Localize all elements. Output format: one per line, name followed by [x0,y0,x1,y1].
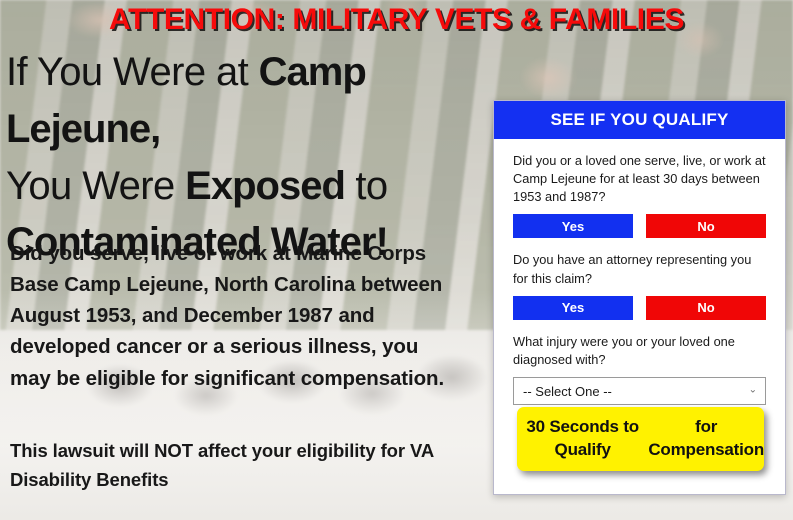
attention-banner: ATTENTION: MILITARY VETS & FAMILIES [0,3,793,37]
qualify-form-panel: SEE IF YOU QUALIFY Did you or a loved on… [493,100,786,495]
question-2-answers: Yes No [513,296,766,320]
cta-line-2: for Compensation [648,416,764,461]
va-benefits-disclaimer: This lawsuit will NOT affect your eligib… [10,437,460,494]
question-1-no-button[interactable]: No [646,214,766,238]
question-3-label: What injury were you or your loved one d… [513,333,766,369]
headline-line2-prefix: You Were [6,164,185,208]
headline-line2-strong: Exposed [185,164,345,208]
injury-select[interactable]: -- Select One -- [513,377,766,405]
body-paragraph: Did you serve, live or work at Marine Co… [10,238,450,394]
camp-lejeune-ad: ATTENTION: MILITARY VETS & FAMILIES If Y… [0,0,793,520]
question-1-yes-button[interactable]: Yes [513,214,633,238]
question-2-no-button[interactable]: No [646,296,766,320]
cta-line-1: 30 Seconds to Qualify [517,416,648,461]
submit-qualify-button[interactable]: 30 Seconds to Qualify for Compensation [517,407,764,471]
headline-line2-suffix: to [345,164,388,208]
question-2-yes-button[interactable]: Yes [513,296,633,320]
question-2-label: Do you have an attorney representing you… [513,251,766,287]
question-1-label: Did you or a loved one serve, live, or w… [513,152,766,206]
headline-line1-prefix: If You Were at [6,50,259,94]
panel-body: Did you or a loved one serve, live, or w… [494,139,785,405]
panel-header: SEE IF YOU QUALIFY [494,101,785,139]
injury-select-wrap: -- Select One -- ⌄ [513,377,766,405]
question-1-answers: Yes No [513,214,766,238]
